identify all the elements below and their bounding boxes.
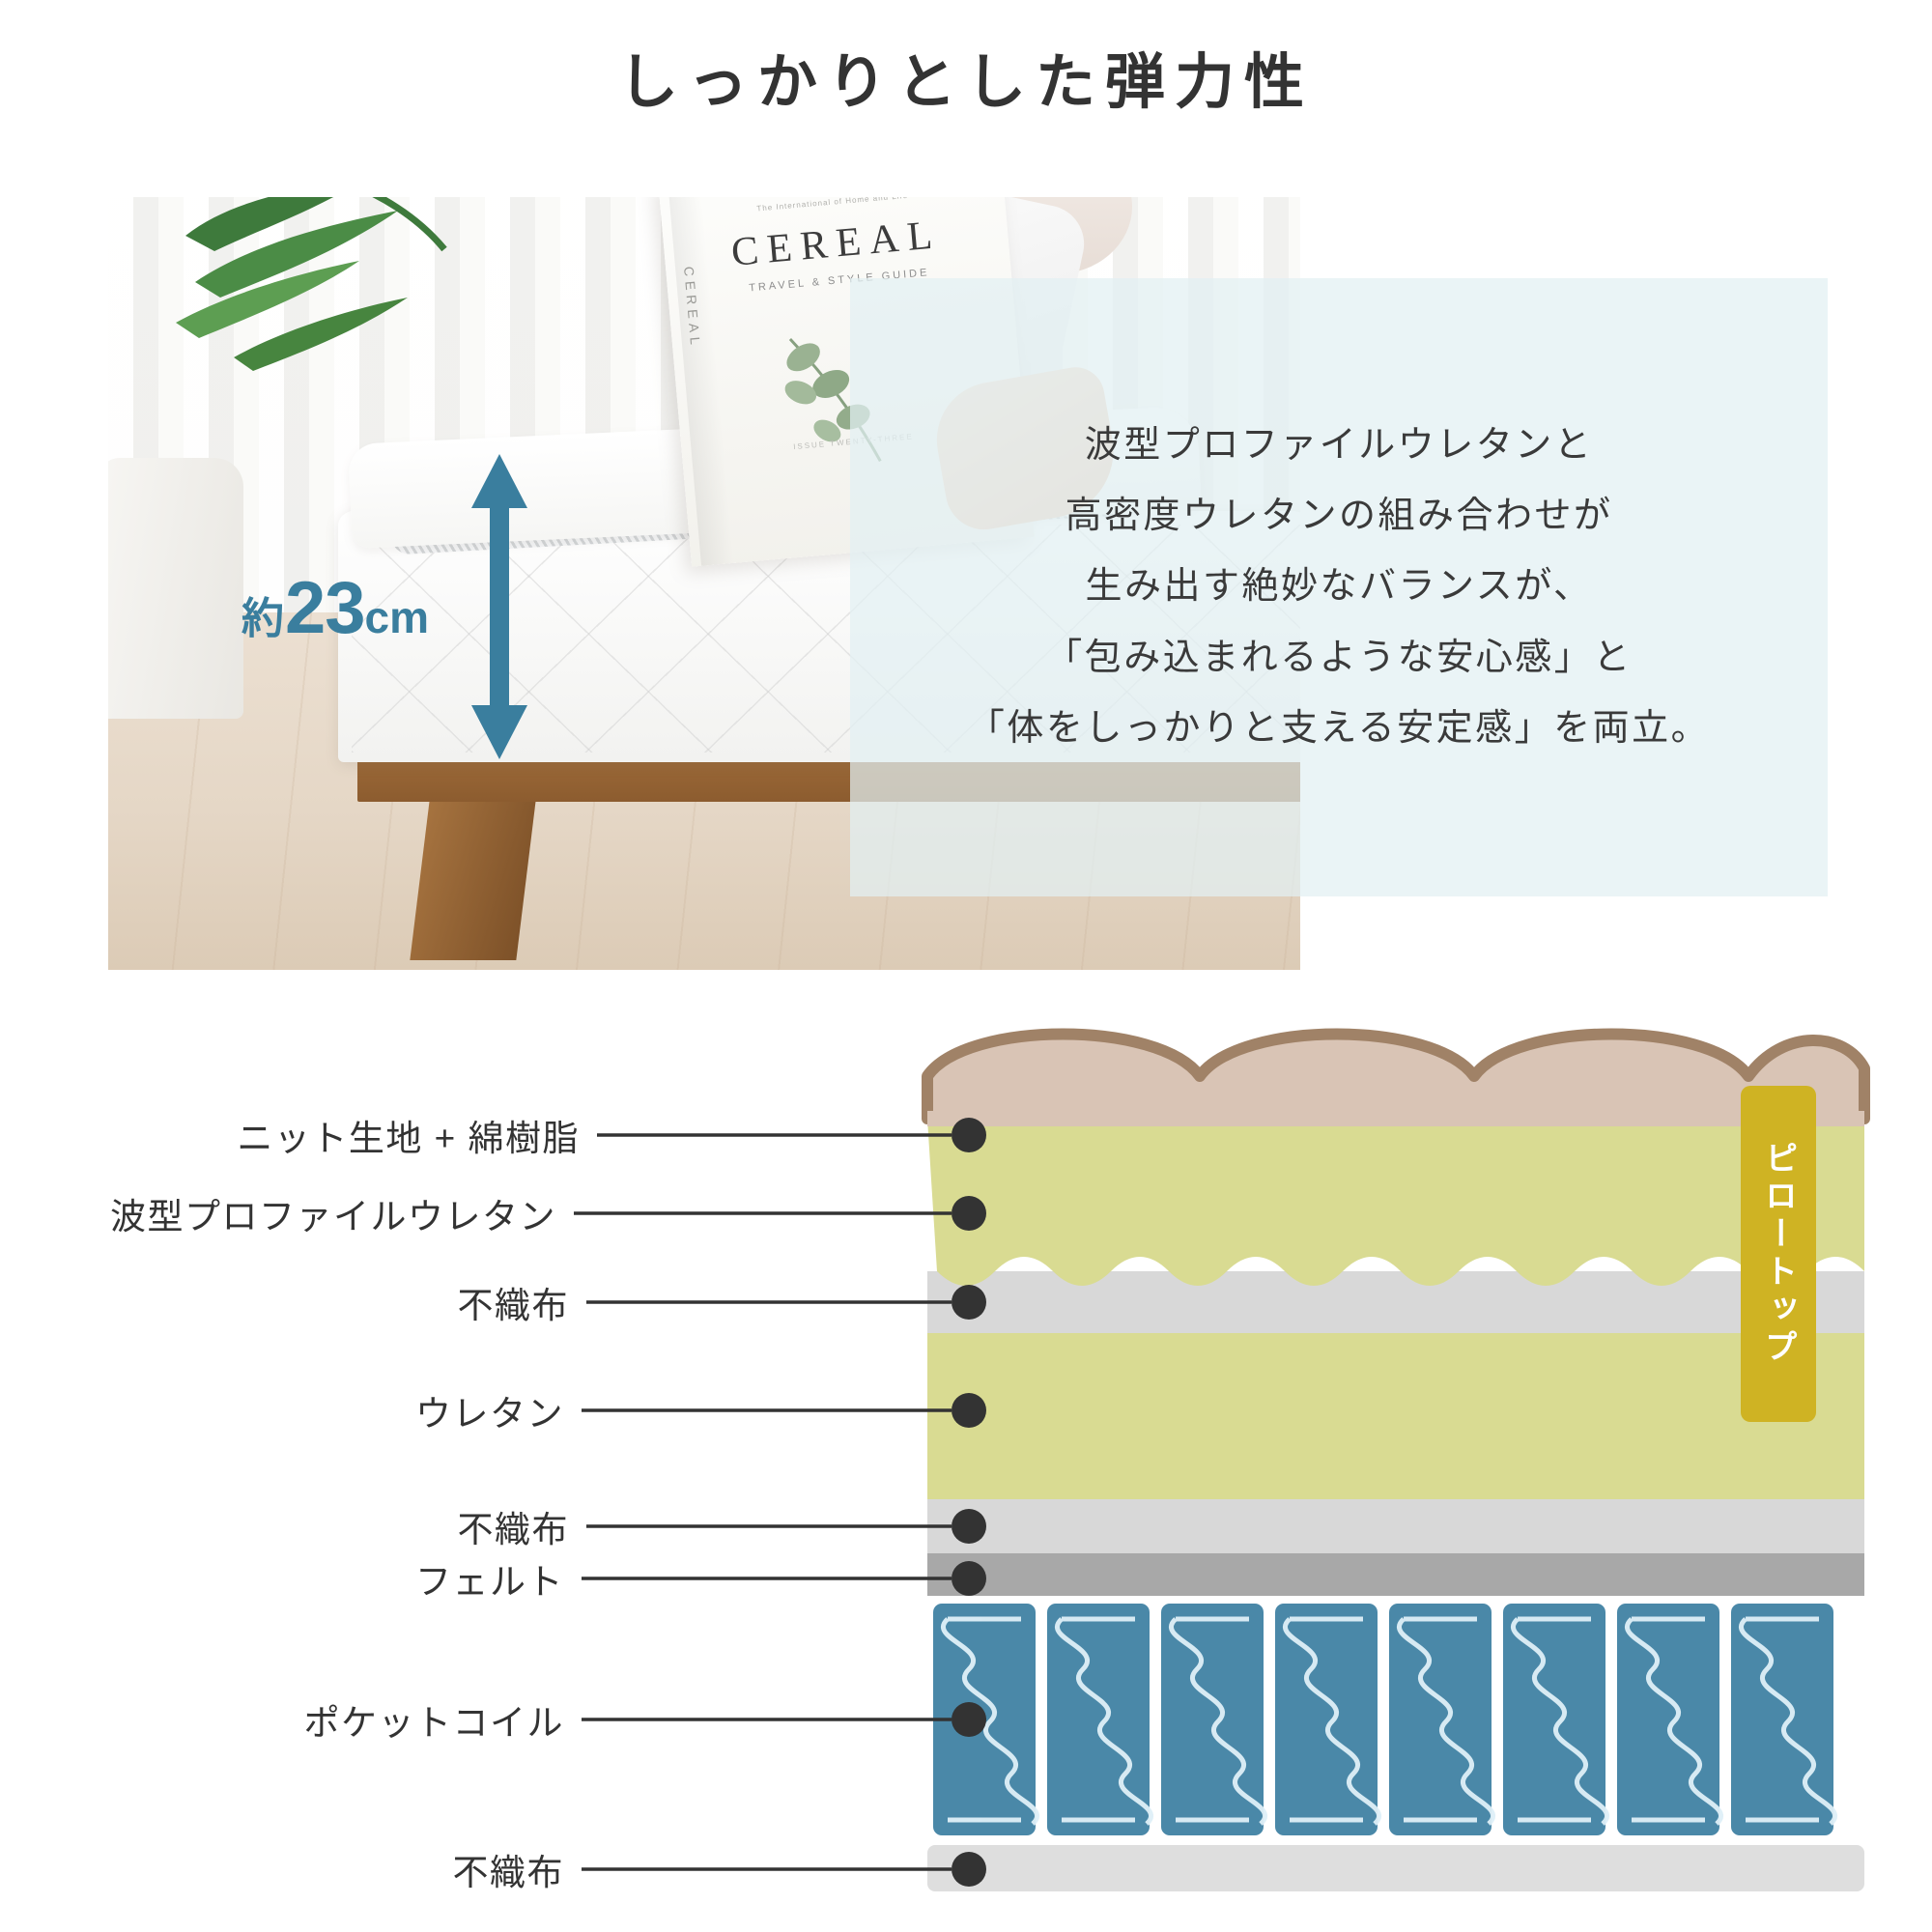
layer-label-urethane: ウレタン xyxy=(0,1384,564,1436)
layer-shape-wave-urethane xyxy=(927,1119,1864,1286)
layer-cross-section-diagram: ニット生地 + 綿樹脂 波型プロファイルウレタン 不織布 ウレタン 不織布 フェ… xyxy=(0,1005,1932,1932)
pillow-top-badge: ピロートップ xyxy=(1741,1086,1816,1422)
measure-approx: 約 xyxy=(241,595,285,642)
feature-text-line: 生み出す絶妙なバランスが、 xyxy=(1086,555,1593,618)
measure-unit: cm xyxy=(365,592,429,642)
height-measure-arrow-icon xyxy=(468,452,531,761)
measure-value: 23 xyxy=(285,567,365,649)
infographic-page: しっかりとした弾力性 The International of Home and xyxy=(0,0,1932,1932)
monstera-plant-icon xyxy=(176,197,495,410)
feature-text-line: 「包み込まれるような安心感」と xyxy=(1045,627,1633,690)
leader-lines xyxy=(574,1135,952,1869)
layer-rect-urethane xyxy=(927,1333,1864,1499)
feature-text-line: 高密度ウレタンの組み合わせが xyxy=(1065,485,1612,548)
layer-label-felt: フェルト xyxy=(0,1552,564,1605)
bed-leg xyxy=(410,777,538,960)
layer-label-nonwoven-2: 不織布 xyxy=(0,1500,569,1552)
layer-label-bottom-nonwoven: 不織布 xyxy=(0,1843,564,1895)
magazine-spine-text: CEREAL xyxy=(681,266,703,350)
layer-rect-nonwoven-2 xyxy=(927,1499,1864,1553)
feature-text-line: 波型プロファイルウレタンと xyxy=(1085,414,1594,477)
layer-label-wave-urethane: 波型プロファイルウレタン xyxy=(0,1187,556,1239)
air-purifier xyxy=(108,458,243,719)
layer-label-knit-fabric: ニット生地 + 綿樹脂 xyxy=(0,1109,580,1161)
layer-rect-bottom-nonwoven xyxy=(927,1845,1864,1891)
height-measure-label: 約23cm xyxy=(241,572,429,645)
layer-rect-felt xyxy=(927,1553,1864,1596)
layer-label-pocket-coil: ポケットコイル xyxy=(0,1693,564,1746)
feature-text-panel: 波型プロファイルウレタンと 高密度ウレタンの組み合わせが 生み出す絶妙なバランス… xyxy=(850,278,1828,896)
layer-group-pocket-coils xyxy=(933,1604,1835,1835)
page-title: しっかりとした弾力性 xyxy=(0,50,1932,116)
layer-shape-knit-top xyxy=(927,1035,1864,1120)
layer-label-nonwoven-1: 不織布 xyxy=(0,1276,569,1328)
feature-text-line: 「体をしっかりと支える安定感」を両立。 xyxy=(968,697,1710,760)
